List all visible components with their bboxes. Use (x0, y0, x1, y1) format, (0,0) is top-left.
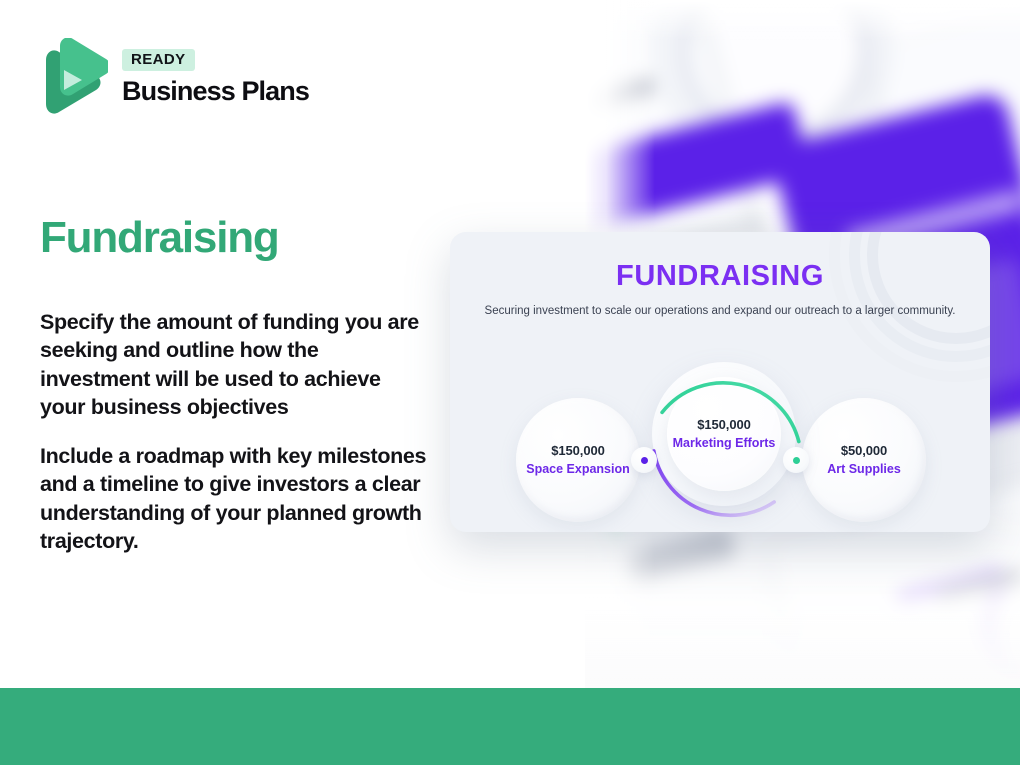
body-paragraph-1: Specify the amount of funding you are se… (40, 308, 430, 422)
connector-left (631, 447, 657, 473)
connector-dot-green (793, 457, 800, 464)
footer-bar (0, 688, 1020, 765)
fundraising-circle-diagram: $150,000 Space Expansion $50,000 Art Sup… (450, 342, 990, 532)
card-subtitle: Securing investment to scale our operati… (450, 304, 990, 320)
progress-arcs (642, 350, 806, 522)
node-label: Art Supplies (827, 461, 901, 477)
node-amount: $150,000 (551, 443, 604, 459)
body-paragraph-2: Include a roadmap with key milestones an… (40, 442, 430, 556)
diagram-node-art-supplies: $50,000 Art Supplies (802, 398, 926, 522)
node-amount: $50,000 (841, 443, 887, 459)
card-title: FUNDRAISING (450, 260, 990, 293)
connector-dot-purple (641, 457, 648, 464)
background-fade-bottom (585, 508, 1020, 688)
page-title: Fundraising (40, 216, 279, 260)
double-play-triangle-logo-icon (40, 38, 108, 118)
fundraising-preview-card: FUNDRAISING Securing investment to scale… (450, 232, 990, 532)
brand-wordmark: READY Business Plans (122, 49, 309, 107)
diagram-node-marketing-efforts: $150,000 Marketing Efforts (650, 350, 798, 522)
connector-right (783, 447, 809, 473)
brand-logo: READY Business Plans (40, 38, 309, 118)
node-label: Space Expansion (526, 461, 630, 477)
ready-badge: READY (122, 49, 195, 71)
slide-canvas: READY Business Plans Fundraising Specify… (0, 0, 1020, 765)
diagram-node-space-expansion: $150,000 Space Expansion (516, 398, 640, 522)
brand-name: Business Plans (122, 77, 309, 107)
